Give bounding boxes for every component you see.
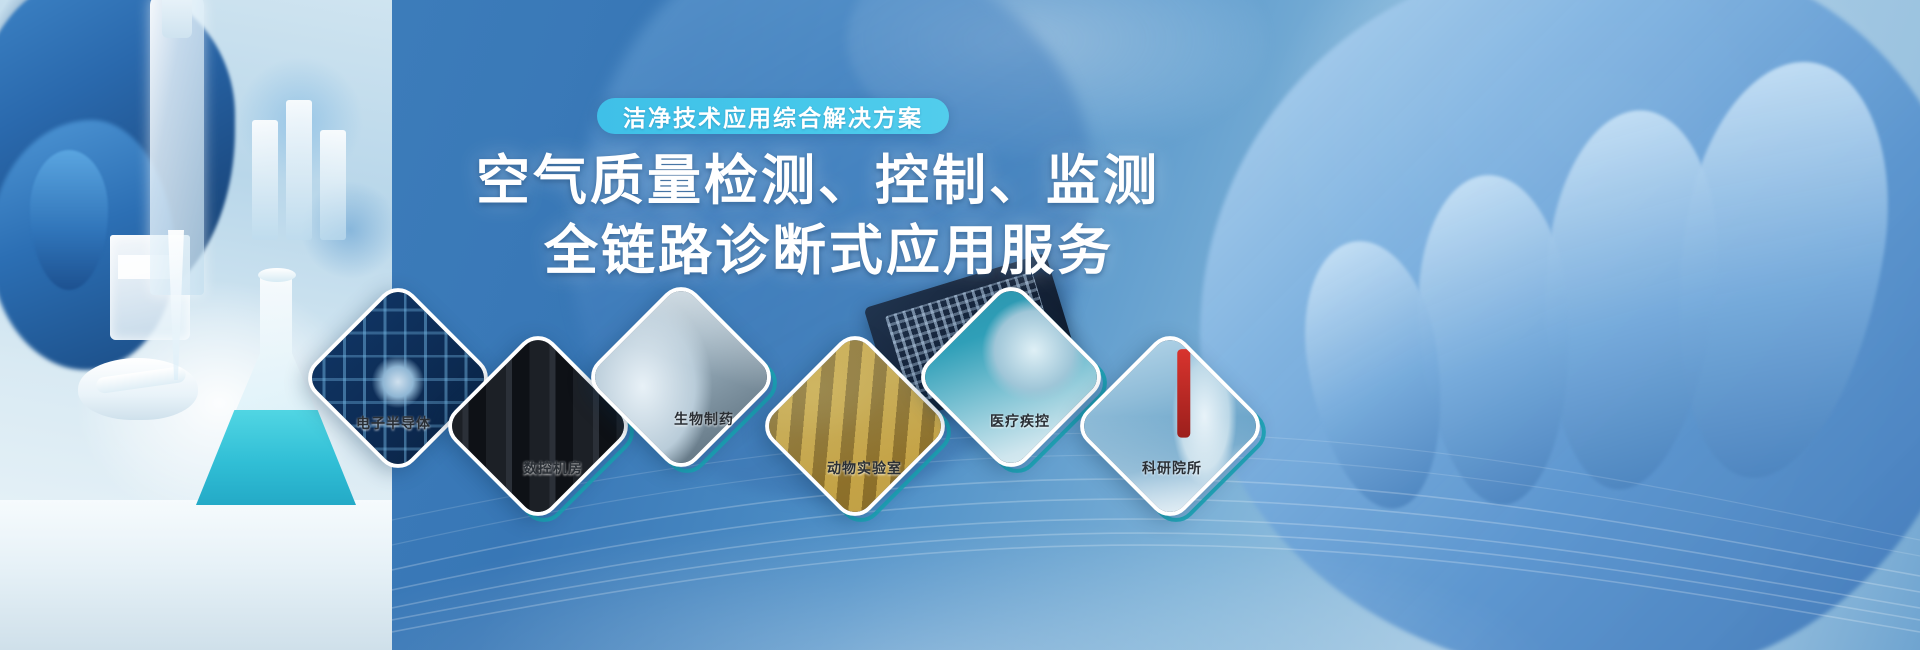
card-research[interactable] xyxy=(1071,327,1269,525)
card-animal-lab[interactable] xyxy=(756,327,954,525)
industry-card-row: 电子半导体 数控机房 生物制药 动物实验室 医疗疾控 科研院所 xyxy=(0,0,1920,650)
hero-banner: 洁净技术应用综合解决方案 空气质量检测、控制、监测 全链路诊断式应用服务 电子半… xyxy=(0,0,1920,650)
card-label-datacenter: 数控机房 xyxy=(523,458,583,478)
card-label-semiconductor: 电子半导体 xyxy=(356,413,431,433)
card-label-research: 科研院所 xyxy=(1142,458,1202,478)
card-label-animal-lab: 动物实验室 xyxy=(827,458,902,478)
card-label-pharma: 生物制药 xyxy=(674,409,734,429)
research-institute-icon xyxy=(1074,330,1265,521)
animal-laboratory-icon xyxy=(759,330,950,521)
card-label-medical: 医疗疾控 xyxy=(990,411,1050,431)
